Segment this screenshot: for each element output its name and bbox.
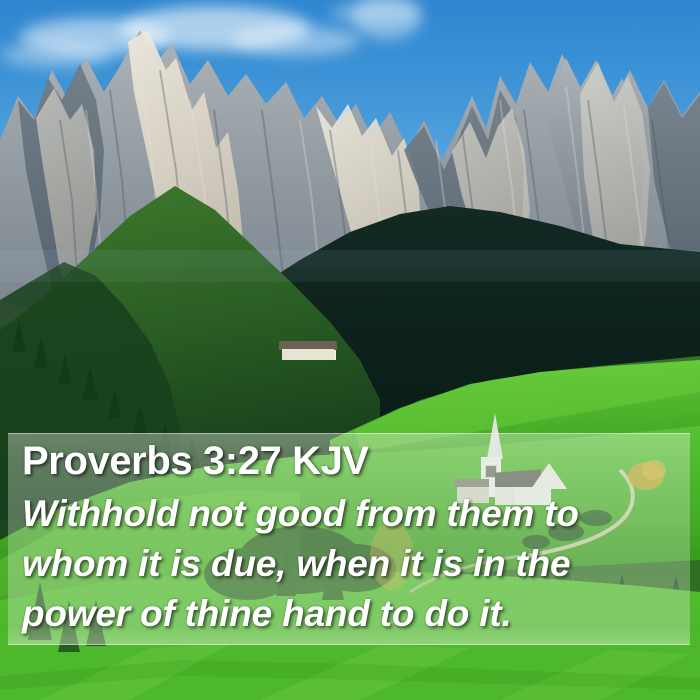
verse-body-text: Withhold not good from them to whom it i… (22, 489, 672, 639)
verse-line-1: Withhold not good from them to (22, 489, 672, 539)
farmhouse-wall (282, 349, 334, 360)
farmhouse-building (279, 341, 337, 361)
verse-line-3: power of thine hand to do it. (22, 589, 672, 639)
verse-reference-heading: Proverbs 3:27 KJV (22, 437, 672, 485)
verse-image-card: Proverbs 3:27 KJV Withhold not good from… (0, 0, 700, 700)
verse-text-block: Proverbs 3:27 KJV Withhold not good from… (22, 437, 672, 639)
verse-line-2: whom it is due, when it is in the (22, 539, 672, 589)
